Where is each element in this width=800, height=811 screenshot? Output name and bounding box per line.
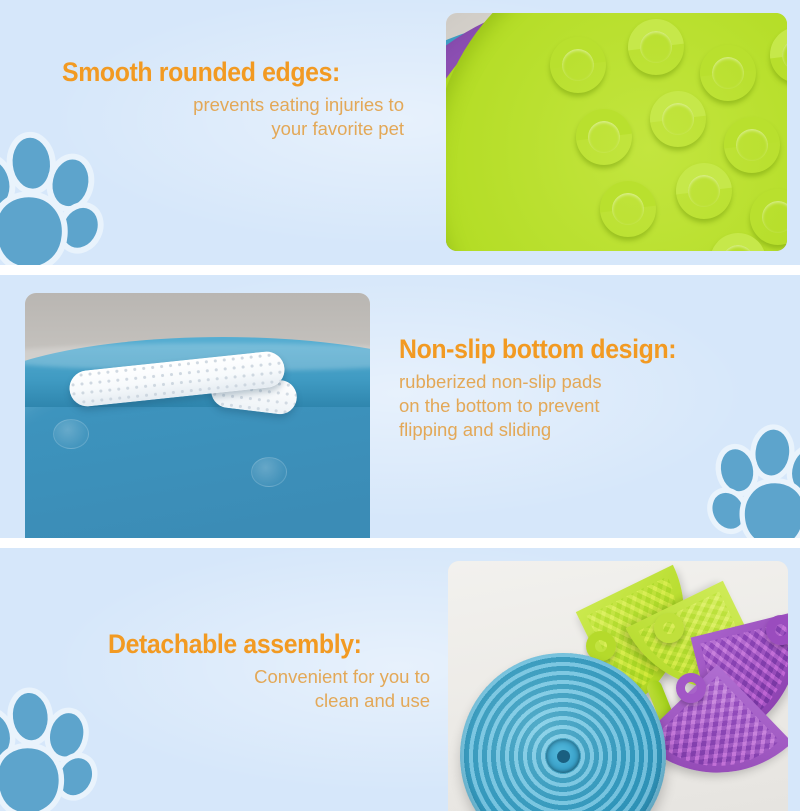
panel-subtitle: Convenient for you to clean and use [0, 665, 430, 712]
subtitle-line: your favorite pet [0, 117, 404, 141]
subtitle-line: clean and use [0, 689, 430, 713]
subtitle-line: rubberized non-slip pads [399, 370, 789, 394]
feature-panel-smooth-rounded-edges: Smooth rounded edges: prevents eating in… [0, 0, 800, 265]
panel-heading: Non-slip bottom design: [399, 335, 758, 363]
subtitle-line: flipping and sliding [399, 418, 789, 442]
product-feature-infographic: Smooth rounded edges: prevents eating in… [0, 0, 800, 811]
paw-print-icon [0, 126, 104, 265]
panel-divider [0, 265, 800, 275]
panel-heading: Detachable assembly: [108, 630, 404, 658]
feature-text-detachable-assembly: Detachable assembly: Convenient for you … [0, 630, 438, 713]
feature-text-non-slip-bottom-design: Non-slip bottom design: rubberized non-s… [399, 335, 789, 441]
subtitle-line: Convenient for you to [0, 665, 430, 689]
panel-subtitle: rubberized non-slip pads on the bottom t… [399, 370, 789, 441]
feature-panel-non-slip-bottom-design: Non-slip bottom design: rubberized non-s… [0, 275, 800, 538]
product-photo-detachable-parts [448, 561, 788, 811]
product-photo-stacked-bowls [446, 13, 787, 251]
panel-heading: Smooth rounded edges: [62, 58, 377, 86]
panel-subtitle: prevents eating injuries to your favorit… [0, 93, 404, 140]
subtitle-line: on the bottom to prevent [399, 394, 789, 418]
feature-panel-detachable-assembly: Detachable assembly: Convenient for you … [0, 548, 800, 811]
panel-divider [0, 538, 800, 548]
product-photo-non-slip-pad [25, 293, 370, 538]
subtitle-line: prevents eating injuries to [0, 93, 404, 117]
feature-text-smooth-rounded-edges: Smooth rounded edges: prevents eating in… [0, 58, 420, 141]
